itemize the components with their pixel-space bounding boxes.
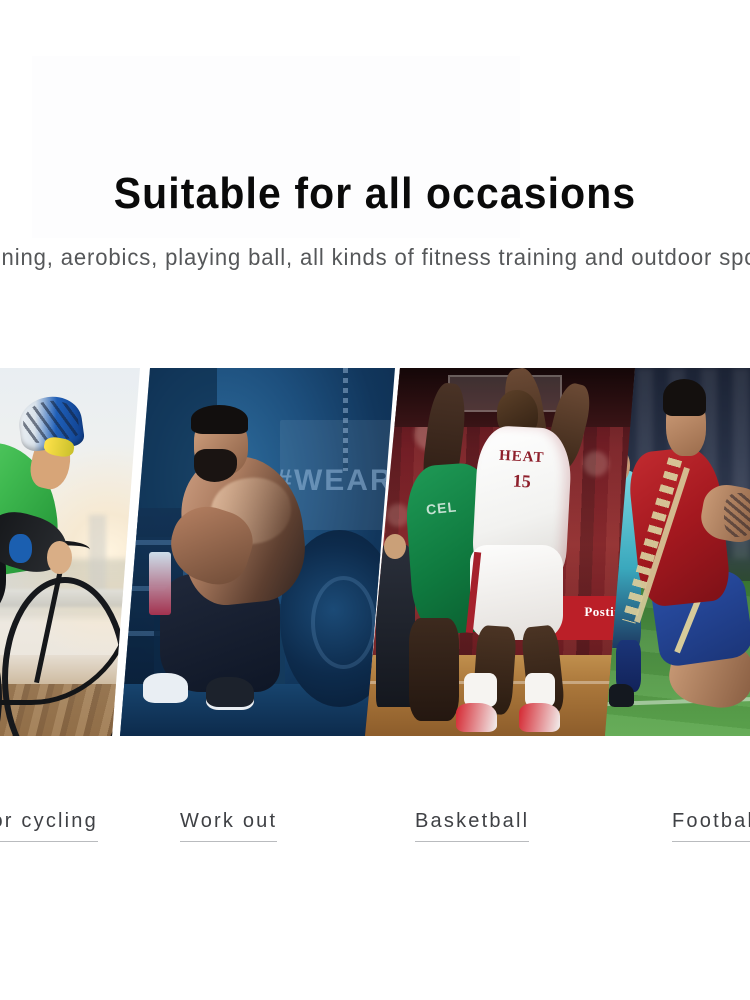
gallery-item-work-out[interactable]: #WEAR <box>120 368 405 736</box>
gallery-item-basketball[interactable]: Postino CEL HEAT 15 <box>365 368 640 736</box>
jersey-team-text: HEAT <box>486 447 558 468</box>
promo-section: Suitable for all occasions Running, aero… <box>0 0 750 1000</box>
occasion-gallery: #WEAR Postino CEL <box>0 368 750 736</box>
gallery-label-football[interactable]: Football <box>672 806 750 842</box>
page-subtitle: Running, aerobics, playing ball, all kin… <box>0 238 750 276</box>
workout-photo: #WEAR <box>120 368 405 736</box>
subheading-block: Running, aerobics, playing ball, all kin… <box>0 238 750 276</box>
gallery-label-work-out[interactable]: Work out <box>180 806 277 842</box>
jersey-number-text: 15 <box>496 470 547 494</box>
page-title: Suitable for all occasions <box>26 168 724 220</box>
gallery-labels: Outdoor cycling Work out Basketball Foot… <box>0 806 750 850</box>
gallery-label-basketball[interactable]: Basketball <box>415 806 529 842</box>
basketball-photo: Postino CEL HEAT 15 <box>365 368 640 736</box>
heading-block: Suitable for all occasions <box>0 168 750 220</box>
gallery-label-outdoor-cycling[interactable]: Outdoor cycling <box>0 806 98 842</box>
